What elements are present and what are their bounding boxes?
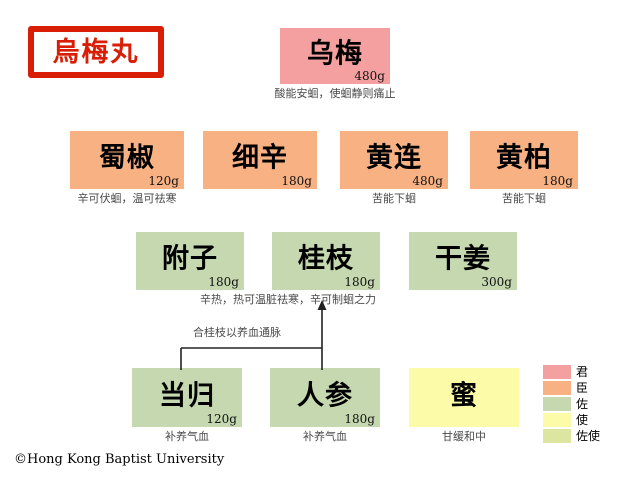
herb-dose: 180g (542, 175, 573, 187)
herb-card[interactable]: 当归120g补养气血 (132, 368, 242, 427)
herb-caption: 苦能下蛔 (502, 192, 546, 205)
herb-caption: 甘缓和中 (442, 430, 486, 443)
herb-card[interactable]: 黄柏180g苦能下蛔 (470, 131, 578, 189)
group-caption: 辛热，热可温脏祛寒，辛可制蛔之力 (200, 293, 376, 306)
herb-name: 黄柏 (470, 144, 578, 171)
herb-dose: 180g (344, 413, 375, 425)
herb-caption: 酸能安蛔，使蛔静则痛止 (275, 87, 396, 100)
herb-caption: 补养气血 (303, 430, 347, 443)
legend-swatch (543, 413, 571, 427)
herb-dose: 300g (481, 276, 512, 288)
herb-name: 人参 (270, 382, 380, 409)
herb-card[interactable]: 桂枝180g (272, 232, 380, 290)
herb-name: 黄连 (340, 144, 448, 171)
herb-name: 附子 (136, 245, 244, 272)
legend-label: 佐 (576, 398, 588, 410)
herb-card[interactable]: 附子180g (136, 232, 244, 290)
herb-name: 蜜 (409, 382, 519, 409)
herb-card[interactable]: 黄连480g苦能下蛔 (340, 131, 448, 189)
legend-swatch (543, 397, 571, 411)
legend-label: 佐使 (576, 430, 600, 442)
herb-card[interactable]: 乌梅480g酸能安蛔，使蛔静则痛止 (280, 28, 390, 84)
herb-dose: 120g (206, 413, 237, 425)
formula-diagram: 烏梅丸 乌梅480g酸能安蛔，使蛔静则痛止蜀椒120g辛可伏蛔，温可祛寒细辛18… (0, 0, 640, 480)
herb-name: 蜀椒 (70, 144, 184, 171)
legend-label: 臣 (576, 382, 588, 394)
herb-caption: 苦能下蛔 (372, 192, 416, 205)
herb-card[interactable]: 人参180g补养气血 (270, 368, 380, 427)
herb-dose: 480g (354, 70, 385, 82)
herb-caption: 补养气血 (165, 430, 209, 443)
herb-dose: 180g (344, 276, 375, 288)
herb-dose: 180g (208, 276, 239, 288)
legend-swatch (543, 429, 571, 443)
legend-label: 使 (576, 414, 588, 426)
herb-card[interactable]: 蜀椒120g辛可伏蛔，温可祛寒 (70, 131, 184, 189)
legend: 君臣佐使佐使 (543, 364, 600, 444)
connector-label: 合桂枝以养血通脉 (193, 326, 281, 339)
legend-row: 使 (543, 412, 600, 428)
herb-caption: 辛可伏蛔，温可祛寒 (78, 192, 177, 205)
herb-name: 细辛 (203, 144, 317, 171)
herb-dose: 180g (281, 175, 312, 187)
herb-name: 当归 (132, 382, 242, 409)
legend-swatch (543, 365, 571, 379)
legend-row: 佐 (543, 396, 600, 412)
formula-seal-text: 烏梅丸 (53, 39, 140, 66)
herb-name: 乌梅 (280, 40, 390, 67)
legend-swatch (543, 381, 571, 395)
herb-card[interactable]: 干姜300g (409, 232, 517, 290)
herb-name: 桂枝 (272, 245, 380, 272)
legend-label: 君 (576, 366, 588, 378)
herb-card[interactable]: 蜜甘缓和中 (409, 368, 519, 427)
legend-row: 君 (543, 364, 600, 380)
herb-dose: 480g (412, 175, 443, 187)
herb-name: 干姜 (409, 245, 517, 272)
herb-card[interactable]: 细辛180g (203, 131, 317, 189)
formula-seal: 烏梅丸 (28, 26, 164, 78)
copyright-footer: ©Hong Kong Baptist University (14, 452, 224, 467)
herb-dose: 120g (148, 175, 179, 187)
legend-row: 臣 (543, 380, 600, 396)
legend-row: 佐使 (543, 428, 600, 444)
